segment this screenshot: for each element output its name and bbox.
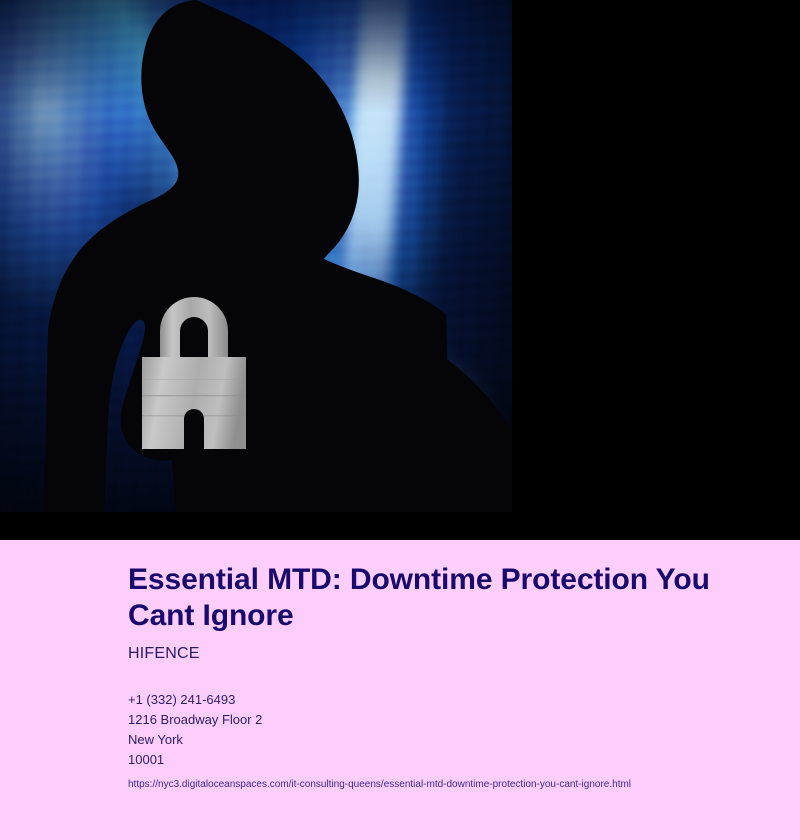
contact-block: +1 (332) 241-6493 1216 Broadway Floor 2 … — [128, 690, 740, 770]
contact-street: 1216 Broadway Floor 2 — [128, 710, 740, 730]
padlock-icon — [138, 283, 250, 451]
hero-banner — [0, 0, 800, 540]
contact-phone[interactable]: +1 (332) 241-6493 — [128, 690, 740, 710]
content-panel: Essential MTD: Downtime Protection You C… — [0, 540, 800, 840]
page-root: Essential MTD: Downtime Protection You C… — [0, 0, 800, 840]
contact-city: New York — [128, 730, 740, 750]
brand-name: HIFENCE — [128, 644, 740, 664]
content-panel-inner: Essential MTD: Downtime Protection You C… — [0, 540, 800, 792]
person-silhouette-icon — [0, 0, 512, 512]
source-url[interactable]: https://nyc3.digitaloceanspaces.com/it-c… — [128, 778, 740, 792]
contact-postal-code: 10001 — [128, 750, 740, 770]
page-title: Essential MTD: Downtime Protection You C… — [128, 562, 728, 634]
hero-photo — [0, 0, 512, 512]
